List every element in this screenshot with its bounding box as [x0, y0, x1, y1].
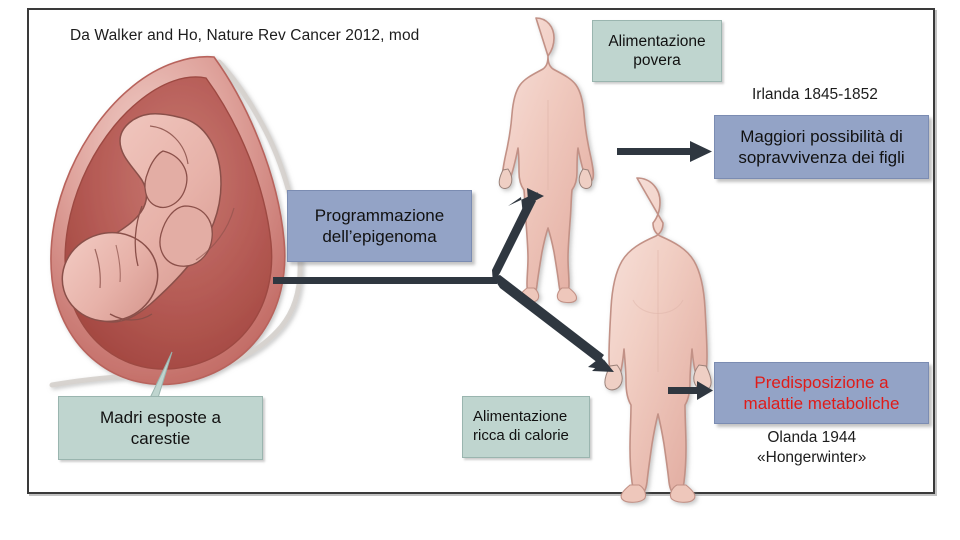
box-line-2: malattie metaboliche [744, 393, 900, 414]
diagram-canvas: Da Walker and Ho, Nature Rev Cancer 2012… [0, 0, 960, 540]
box-line-1: Predisposizione a [754, 372, 888, 393]
box-line-2: ricca di calorie [473, 427, 569, 446]
box-line-1: Maggiori possibilità di [740, 126, 903, 147]
box-line-2: povera [633, 51, 680, 70]
box-alimentazione-povera[interactable]: Alimentazione povera [592, 20, 722, 82]
box-line-1: Madri esposte a [100, 407, 221, 428]
box-line-1: Alimentazione [473, 408, 567, 427]
caption-line-1: Olanda 1944 [757, 428, 866, 448]
box-line-2: carestie [131, 428, 191, 449]
box-programmazione-epigenoma[interactable]: Programmazione dell’epigenoma [287, 190, 472, 262]
box-line-1: Programmazione [315, 205, 444, 226]
box-predisposizione-malattie[interactable]: Predisposizione a malattie metaboliche [714, 362, 929, 424]
source-credit: Da Walker and Ho, Nature Rev Cancer 2012… [70, 27, 419, 45]
box-madri-esposte-carestie[interactable]: Madri esposte a carestie [58, 396, 263, 460]
caption-olanda: Olanda 1944 «Hongerwinter» [757, 428, 866, 468]
box-line-1: Alimentazione [608, 32, 705, 51]
box-maggiori-possibilita[interactable]: Maggiori possibilità di sopravvivenza de… [714, 115, 929, 179]
box-line-2: sopravvivenza dei figli [738, 147, 904, 168]
caption-irlanda: Irlanda 1845-1852 [752, 85, 878, 105]
box-line-2: dell’epigenoma [322, 226, 436, 247]
box-alimentazione-ricca[interactable]: Alimentazione ricca di calorie [462, 396, 590, 458]
caption-line-2: «Hongerwinter» [757, 448, 866, 468]
